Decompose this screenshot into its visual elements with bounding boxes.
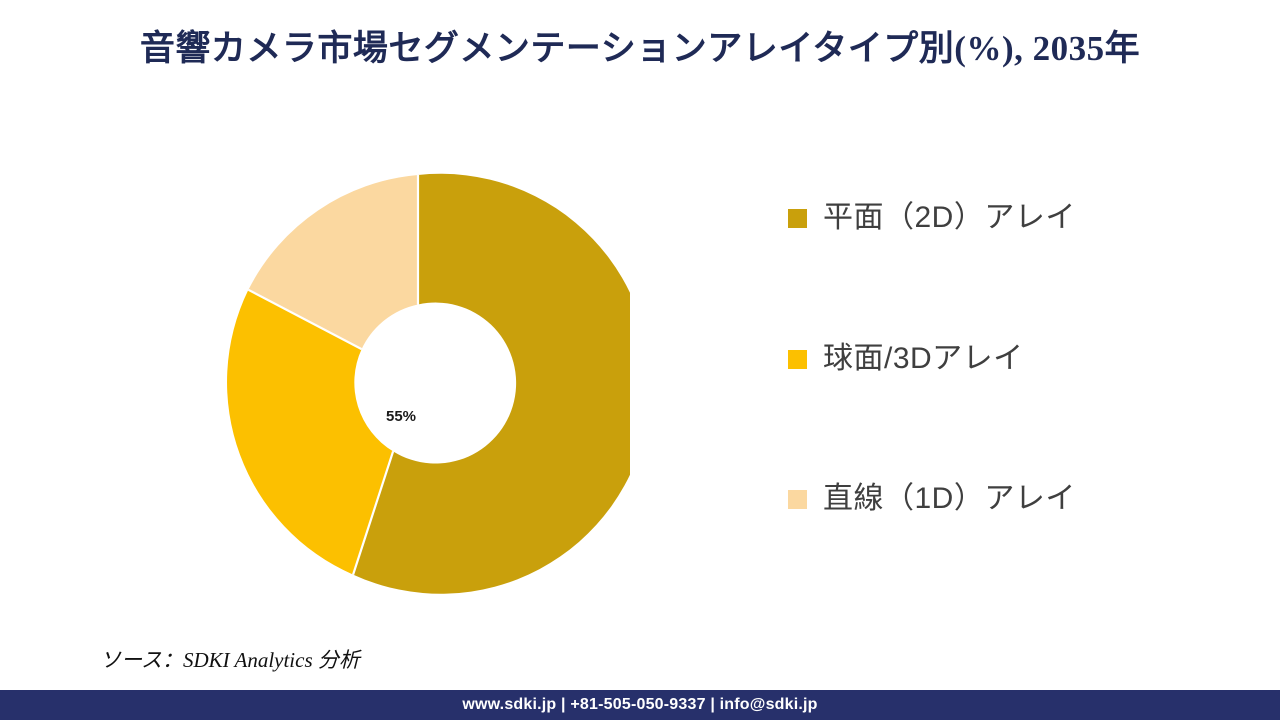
legend-label-linear-1d: 直線（1D）アレイ	[823, 482, 1076, 516]
source-note: ソース：SDKI Analytics 分析	[100, 644, 360, 674]
legend-item-planar-2d[interactable]: 平面（2D）アレイ	[788, 196, 1076, 240]
footer-contact-text: www.sdki.jp | +81-505-050-9337 | info@sd…	[462, 696, 817, 714]
legend-item-spherical-3d[interactable]: 球面/3Dアレイ	[788, 337, 1024, 381]
donut-chart: 55%	[206, 173, 630, 597]
donut-chart-svg: 55%	[206, 173, 630, 597]
legend-label-planar-2d: 平面（2D）アレイ	[823, 201, 1076, 235]
legend-swatch-icon-planar-2d	[788, 209, 807, 228]
chart-legend: 平面（2D）アレイ 球面/3Dアレイ 直線（1D）アレイ	[788, 196, 1208, 546]
page-title: 音響カメラ市場セグメンテーションアレイタイプ別(%), 2035年	[80, 26, 1200, 72]
slide-canvas: 音響カメラ市場セグメンテーションアレイタイプ別(%), 2035年 55% 平面…	[0, 0, 1280, 720]
footer-bar: www.sdki.jp | +81-505-050-9337 | info@sd…	[0, 690, 1280, 720]
slice-label-planar-2d: 55%	[386, 408, 416, 425]
legend-label-spherical-3d: 球面/3Dアレイ	[823, 342, 1024, 376]
legend-swatch-icon-spherical-3d	[788, 350, 807, 369]
legend-item-linear-1d[interactable]: 直線（1D）アレイ	[788, 477, 1076, 521]
legend-swatch-icon-linear-1d	[788, 490, 807, 509]
